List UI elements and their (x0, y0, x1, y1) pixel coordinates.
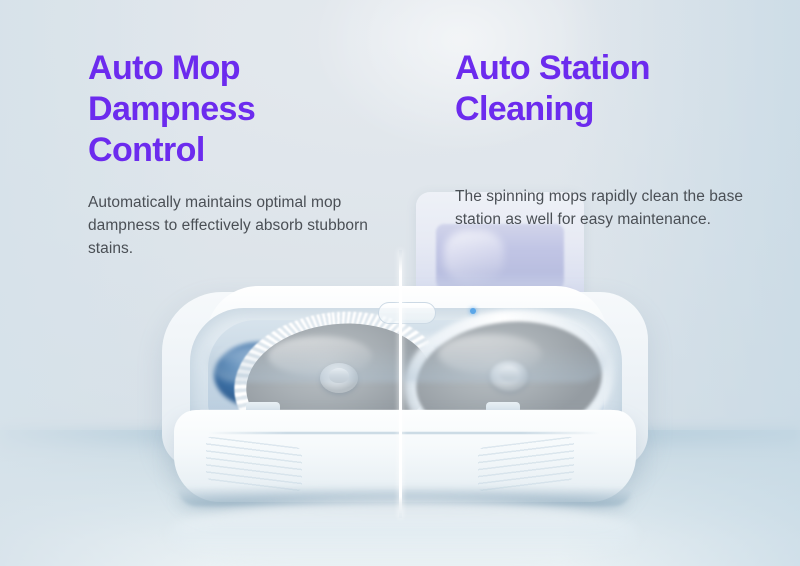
panel-body-text: Automatically maintains optimal mop damp… (88, 191, 368, 260)
panel-headline: Auto Station Cleaning (455, 48, 745, 130)
panel-auto-mop-dampness-control: Auto Mop Dampness Control Automatically … (88, 48, 368, 260)
feature-comparison-banner: Auto Mop Dampness Control Automatically … (0, 0, 800, 566)
station-top-shadow (206, 346, 608, 382)
water-tank-highlight (444, 230, 504, 282)
panel-auto-station-cleaning: Auto Station Cleaning The spinning mops … (455, 48, 745, 231)
lid-button[interactable] (378, 302, 436, 324)
panel-headline: Auto Mop Dampness Control (88, 48, 368, 171)
status-led (470, 308, 476, 314)
panel-body-text: The spinning mops rapidly clean the base… (455, 185, 745, 231)
product-floor-reflection (168, 500, 638, 566)
station-front-seam (208, 432, 600, 434)
split-divider (399, 250, 402, 518)
